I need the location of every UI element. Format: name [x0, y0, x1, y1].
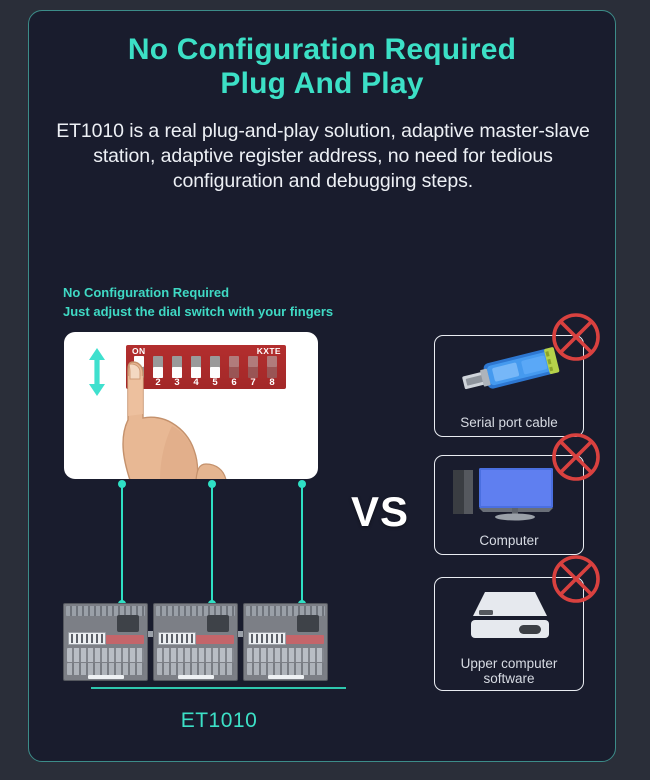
- module-red-bar: [286, 635, 324, 644]
- card-label-serial: Serial port cable: [435, 415, 583, 430]
- module-terminal-row-1: [247, 648, 324, 662]
- module-base-clip: [178, 675, 214, 679]
- module-dip-switch: [68, 632, 106, 645]
- et1010-module-1: [63, 603, 148, 681]
- usb-serial-adapter-icon: [435, 340, 585, 402]
- connector-dot-top-1: [118, 480, 126, 488]
- pointing-hand-icon: [120, 360, 250, 479]
- connector-line-1: [121, 484, 123, 604]
- dip-switch-card: ON KXTE 2 3 4 5 6 7 8: [64, 332, 318, 479]
- card-label-computer: Computer: [435, 533, 583, 548]
- card-label-software: Upper computer software: [435, 656, 583, 686]
- up-down-arrow-icon: [86, 348, 108, 396]
- module-terminal-row-1: [67, 648, 144, 662]
- description-text: ET1010 is a real plug-and-play solution,…: [47, 119, 599, 194]
- desktop-computer-icon: [435, 460, 585, 522]
- module-terminal-row-2: [157, 663, 234, 675]
- module-base-clip: [88, 675, 124, 679]
- module-terminal-row-2: [67, 663, 144, 675]
- card-computer[interactable]: Computer: [434, 455, 584, 555]
- et1010-module-2: [153, 603, 238, 681]
- module-red-bar: [106, 635, 144, 644]
- module-base-clip: [268, 675, 304, 679]
- module-block: [207, 615, 229, 632]
- module-red-bar: [196, 635, 234, 644]
- vs-label: VS: [351, 488, 409, 536]
- caption-block: No Configuration Required Just adjust th…: [63, 283, 333, 321]
- title-line-2: Plug And Play: [29, 67, 615, 101]
- dip-on-label: ON: [132, 346, 146, 356]
- module-block: [117, 615, 139, 632]
- dip-number-8: 8: [267, 377, 277, 388]
- connector-line-2: [211, 484, 213, 604]
- page-title: No Configuration Required Plug And Play: [29, 33, 615, 101]
- connector-dot-top-3: [298, 480, 306, 488]
- product-underline: [91, 687, 346, 689]
- card-label-software-line1: Upper computer: [461, 656, 558, 671]
- connector-line-3: [301, 484, 303, 604]
- title-line-1: No Configuration Required: [128, 33, 516, 66]
- module-dip-switch: [158, 632, 196, 645]
- module-block: [297, 615, 319, 632]
- product-name: ET1010: [29, 709, 409, 733]
- connector-dot-top-2: [208, 480, 216, 488]
- dip-knob-8: [267, 356, 277, 367]
- card-upper-computer-software[interactable]: Upper computer software: [434, 577, 584, 691]
- poster-container: No Configuration Required Plug And Play …: [28, 10, 616, 762]
- module-terminal-row-2: [247, 663, 324, 675]
- card-label-software-line2: software: [483, 671, 534, 686]
- module-terminal-row-1: [157, 648, 234, 662]
- dip-brand-label: KXTE: [257, 346, 281, 356]
- server-software-icon: [435, 582, 585, 644]
- caption-line-2: Just adjust the dial switch with your fi…: [63, 302, 333, 321]
- et1010-module-3: [243, 603, 328, 681]
- card-serial-port-cable[interactable]: Serial port cable: [434, 335, 584, 437]
- caption-line-1: No Configuration Required: [63, 283, 333, 302]
- dip-switch-8[interactable]: [267, 356, 277, 378]
- module-dip-switch: [248, 632, 286, 645]
